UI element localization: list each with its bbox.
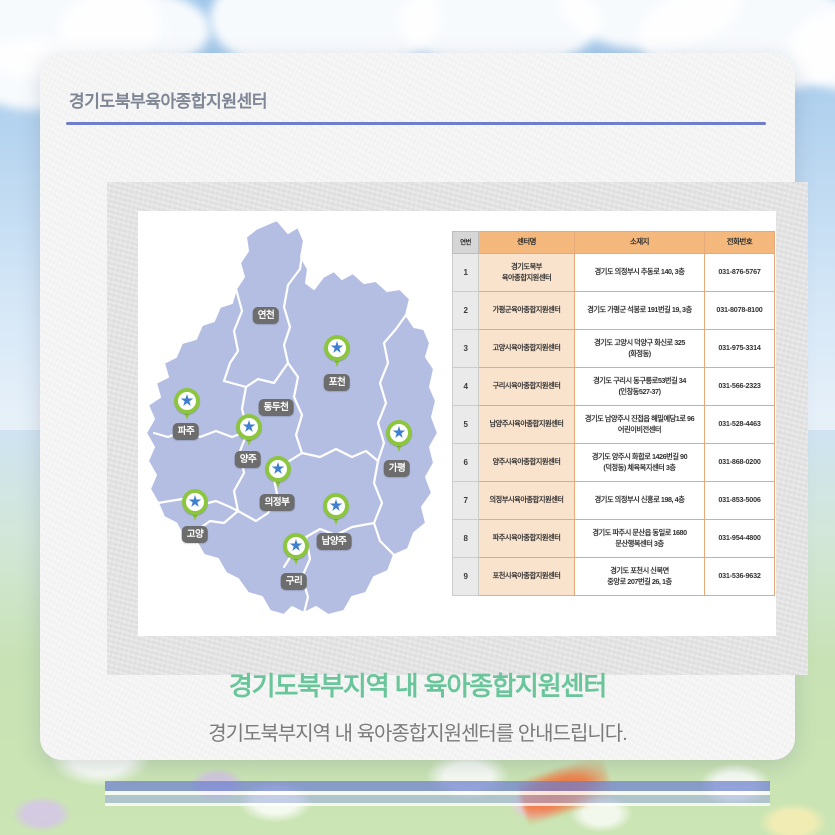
- table-row: 3고양시육아종합지원센터경기도 고양시 덕양구 화신로 325(화정동)031-…: [453, 330, 775, 368]
- site-title: 경기도북부육아종합지원센터: [66, 87, 766, 112]
- table-header-row: 연번 센터명 소재지 전화번호: [453, 232, 775, 254]
- cell-no: 9: [453, 558, 479, 596]
- table-row: 7의정부시육아종합지원센터경기도 의정부시 신흥로 198, 4층031-853…: [453, 482, 775, 520]
- column-header-address: 소재지: [575, 232, 705, 254]
- cell-address: 경기도 구리시 동구릉로53번길 34(인창동527-37): [575, 368, 705, 406]
- cell-phone: 031-853-5006: [705, 482, 775, 520]
- decorative-band: [105, 795, 770, 803]
- cell-phone: 031-954-4800: [705, 520, 775, 558]
- cell-phone: 031-975-3314: [705, 330, 775, 368]
- cell-no: 3: [453, 330, 479, 368]
- map-region-label: 의정부: [260, 494, 295, 511]
- table-row: 8파주시육아종합지원센터경기도 파주시 문산읍 동일로 1680문산행복센터 3…: [453, 520, 775, 558]
- map-region-label: 구리: [281, 573, 307, 590]
- cell-name: 경기도북부육아종합지원센터: [479, 254, 575, 292]
- caption-title: 경기도북부지역 내 육아종합지원센터: [40, 666, 795, 703]
- table-row: 1경기도북부육아종합지원센터경기도 의정부시 추동로 140, 3층031-87…: [453, 254, 775, 292]
- cell-name: 고양시육아종합지원센터: [479, 330, 575, 368]
- cell-address: 경기도 고양시 덕양구 화신로 325(화정동): [575, 330, 705, 368]
- cell-address: 경기도 의정부시 추동로 140, 3층: [575, 254, 705, 292]
- content-card: 경기도북부육아종합지원센터: [40, 53, 795, 760]
- cell-name: 포천시육아종합지원센터: [479, 558, 575, 596]
- map-pin-star-icon[interactable]: [324, 335, 350, 369]
- map-pin-star-icon[interactable]: [386, 420, 412, 454]
- cell-name: 남양주시육아종합지원센터: [479, 406, 575, 444]
- map-region-label: 연천: [253, 307, 279, 324]
- cell-no: 2: [453, 292, 479, 330]
- header-rule: [66, 122, 766, 125]
- cell-phone: 031-536-9632: [705, 558, 775, 596]
- card-header: 경기도북부육아종합지원센터: [66, 87, 766, 125]
- table-row: 9포천시육아종합지원센터경기도 포천시 신북면중앙로 207번길 26, 1층0…: [453, 558, 775, 596]
- cell-phone: 031-876-5767: [705, 254, 775, 292]
- caption-subtitle: 경기도북부지역 내 육아종합지원센터를 안내드립니다.: [40, 717, 795, 746]
- cell-name: 가평군육아종합지원센터: [479, 292, 575, 330]
- cell-name: 양주시육아종합지원센터: [479, 444, 575, 482]
- table-body: 1경기도북부육아종합지원센터경기도 의정부시 추동로 140, 3층031-87…: [453, 254, 775, 596]
- cell-name: 구리시육아종합지원센터: [479, 368, 575, 406]
- decorative-band: [105, 781, 770, 791]
- decorative-band: [105, 803, 770, 806]
- cell-address: 경기도 양주시 화합로 1426번길 90(덕정동) 체육복지센터 3층: [575, 444, 705, 482]
- cell-no: 5: [453, 406, 479, 444]
- cell-address: 경기도 남양주시 진접읍 해밀예당1로 96어린이비전센터: [575, 406, 705, 444]
- cell-no: 7: [453, 482, 479, 520]
- cell-no: 4: [453, 368, 479, 406]
- table-row: 4구리시육아종합지원센터경기도 구리시 동구릉로53번길 34(인창동527-3…: [453, 368, 775, 406]
- infographic-stage: 연천포천동두천파주양주가평의정부고양남양주구리 연번 센터명 소재지 전화번호 …: [138, 211, 776, 636]
- map-region-label: 가평: [384, 460, 410, 477]
- table-row: 2가평군육아종합지원센터경기도 가평군 석봉로 191번길 19, 3층031-…: [453, 292, 775, 330]
- cell-phone: 031-566-2323: [705, 368, 775, 406]
- map-pin-star-icon[interactable]: [182, 489, 208, 523]
- cell-no: 8: [453, 520, 479, 558]
- map-region-label: 양주: [235, 451, 261, 468]
- map-region-label: 고양: [182, 526, 208, 543]
- map-region-label: 포천: [324, 374, 350, 391]
- cell-name: 의정부시육아종합지원센터: [479, 482, 575, 520]
- map-pin-star-icon[interactable]: [265, 456, 291, 490]
- cell-phone: 031-868-0200: [705, 444, 775, 482]
- cell-no: 1: [453, 254, 479, 292]
- cell-address: 경기도 가평군 석봉로 191번길 19, 3층: [575, 292, 705, 330]
- gyeonggi-north-map: 연천포천동두천파주양주가평의정부고양남양주구리: [138, 211, 458, 636]
- column-header-phone: 전화번호: [705, 232, 775, 254]
- table-head: 연번 센터명 소재지 전화번호: [453, 232, 775, 254]
- map-pin-star-icon[interactable]: [236, 414, 262, 448]
- map-pin-star-icon[interactable]: [283, 533, 309, 567]
- map-pin-star-icon[interactable]: [174, 388, 200, 422]
- cell-address: 경기도 파주시 문산읍 동일로 1680문산행복센터 3층: [575, 520, 705, 558]
- cell-phone: 031-8078-8100: [705, 292, 775, 330]
- cell-address: 경기도 의정부시 신흥로 198, 4층: [575, 482, 705, 520]
- cell-no: 6: [453, 444, 479, 482]
- cell-address: 경기도 포천시 신북면중앙로 207번길 26, 1층: [575, 558, 705, 596]
- cell-name: 파주시육아종합지원센터: [479, 520, 575, 558]
- map-region-label: 남양주: [317, 533, 352, 550]
- center-list-table: 연번 센터명 소재지 전화번호 1경기도북부육아종합지원센터경기도 의정부시 추…: [452, 231, 775, 596]
- map-region-label: 파주: [173, 423, 199, 440]
- table-row: 5남양주시육아종합지원센터경기도 남양주시 진접읍 해밀예당1로 96어린이비전…: [453, 406, 775, 444]
- map-pin-star-icon[interactable]: [323, 493, 349, 527]
- caption-block: 경기도북부지역 내 육아종합지원센터 경기도북부지역 내 육아종합지원센터를 안…: [40, 666, 795, 746]
- table-row: 6양주시육아종합지원센터경기도 양주시 화합로 1426번길 90(덕정동) 체…: [453, 444, 775, 482]
- cell-phone: 031-528-4463: [705, 406, 775, 444]
- column-header-name: 센터명: [479, 232, 575, 254]
- map-region-label: 동두천: [259, 399, 294, 416]
- column-header-no: 연번: [453, 232, 479, 254]
